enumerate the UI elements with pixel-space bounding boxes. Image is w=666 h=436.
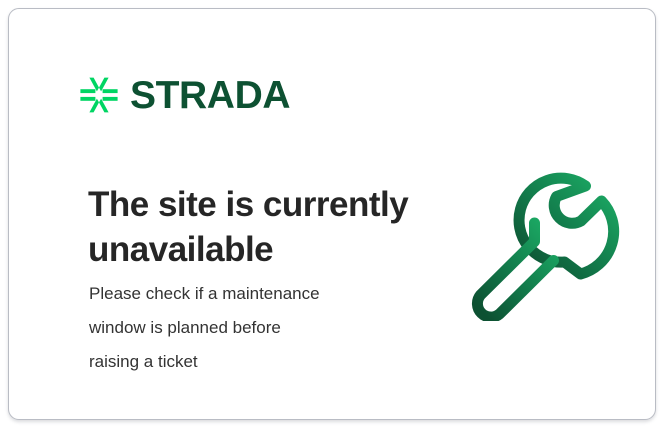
description-line: raising a ticket [89,345,419,379]
page-root: STRADA The site is currently unavailable… [0,0,666,436]
page-title: The site is currently unavailable [88,183,448,271]
brand-wordmark: STRADA [130,76,290,115]
strada-asterisk-icon [79,75,119,115]
wrench-icon [464,161,622,321]
page-description: Please check if a maintenance window is … [89,277,419,379]
status-card: STRADA The site is currently unavailable… [8,8,656,420]
description-line: Please check if a maintenance [89,277,419,311]
brand-logo: STRADA [79,71,290,119]
description-line: window is planned before [89,311,419,345]
